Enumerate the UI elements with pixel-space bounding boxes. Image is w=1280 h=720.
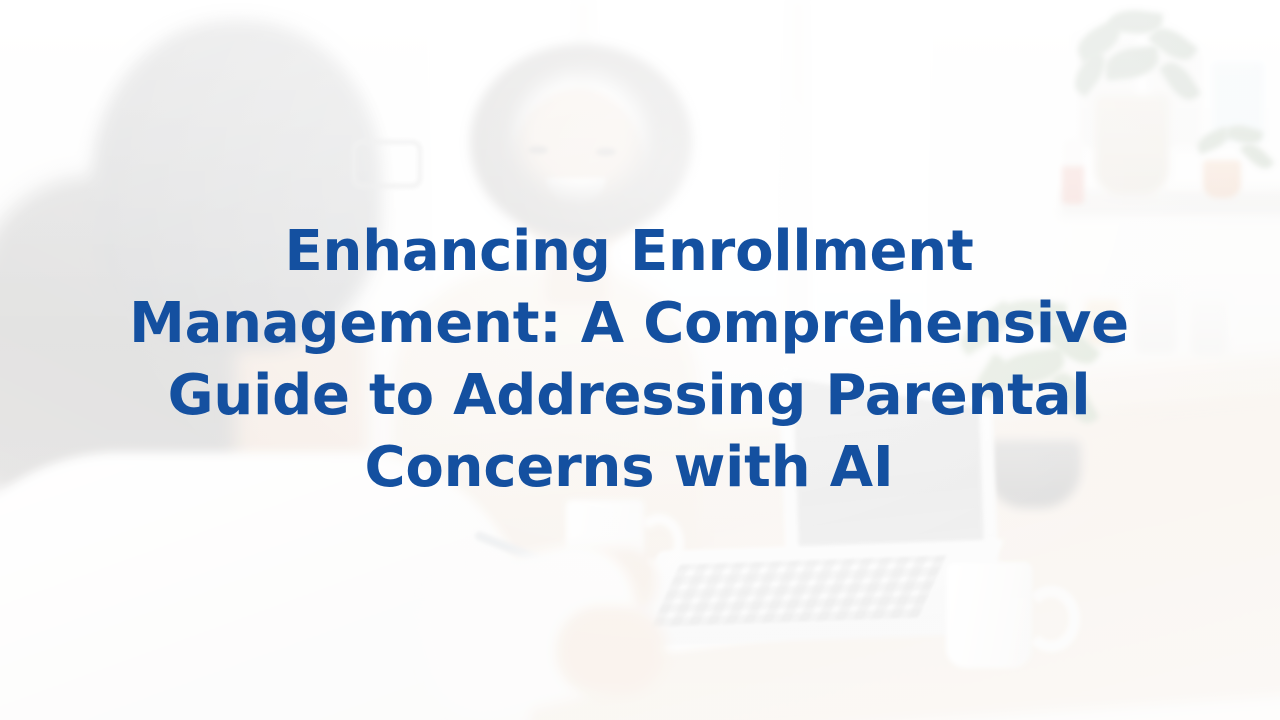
- counter-top: [1060, 190, 1280, 216]
- potted-plant: [1095, 95, 1169, 195]
- eyeglasses-icon: [352, 140, 422, 188]
- blog-hero-banner: Enhancing Enrollment Management: A Compr…: [0, 0, 1280, 720]
- page-title: Enhancing Enrollment Management: A Compr…: [129, 216, 1129, 504]
- laptop-keyboard: [652, 555, 946, 626]
- white-coffee-mug: [946, 562, 1032, 668]
- glass-cup: [1190, 298, 1228, 356]
- woman-curly-hair: [470, 44, 692, 240]
- mug-handle: [1022, 586, 1080, 652]
- fire-extinguisher: [1062, 138, 1084, 204]
- small-orange-plant-pot: [1203, 160, 1241, 198]
- foreground-woman-hand: [556, 606, 666, 696]
- glass-cup: [1135, 288, 1177, 354]
